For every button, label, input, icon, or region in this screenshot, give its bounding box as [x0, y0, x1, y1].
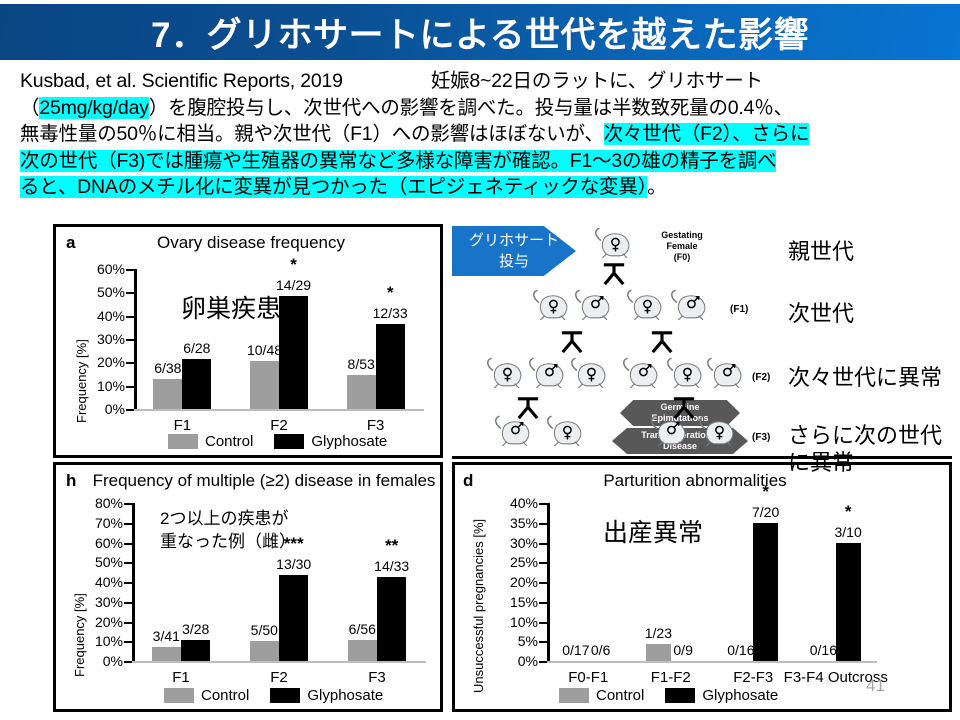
- bar-control-f3: [347, 375, 376, 409]
- bar-value-label: 6/56: [349, 621, 376, 637]
- y-axis-tick-label: 80%: [95, 495, 123, 511]
- pedigree-fork-f1-right: [648, 330, 676, 359]
- y-axis-tick: [124, 622, 132, 624]
- chart-legend-h: ControlGlyphosate: [164, 687, 397, 704]
- y-axis-tick-label: 35%: [510, 515, 538, 531]
- f0-caption: Gestating Female (F0): [634, 230, 730, 263]
- bar-glyphosate-f2: [279, 296, 308, 409]
- bar-value-label: 0/9: [673, 642, 692, 658]
- generation-label-f3: さらに次の世代 に異常: [788, 422, 942, 476]
- rat-icon-f2-3: [620, 356, 664, 393]
- body-line-1: Kusbad, et al. Scientific Reports, 2019妊…: [20, 68, 948, 95]
- slide: 7．グリホサートによる世代を越えた影響 Kusbad, et al. Scien…: [0, 0, 960, 720]
- bar-value-label: 6/38: [154, 360, 181, 376]
- y-axis-tick-label: 20%: [95, 614, 123, 630]
- y-axis-tick: [126, 316, 134, 318]
- bar-glyphosate-f1: [181, 640, 210, 661]
- bar-value-label: 14/33: [374, 558, 409, 574]
- rat-icon-f0-female: [592, 226, 636, 263]
- generation-label-f2: 次々世代に異常: [788, 364, 942, 391]
- body-line-5: ると、DNAのメチル化に変異が見つかった（エピジェネティックな変異）。: [20, 174, 948, 201]
- y-axis-tick: [124, 641, 132, 643]
- legend-label-glyphosate: Glyphosate: [311, 433, 387, 450]
- y-axis-tick: [126, 269, 134, 271]
- glyphosate-dose-arrow: グリホサート 投与: [452, 226, 576, 276]
- x-axis-category-label: F2-F3: [733, 669, 773, 686]
- body-line-4-highlight: 次の世代（F3)では腫瘍や生殖器の異常など多様な障害が確認。F1～3の雄の精子を…: [20, 150, 776, 172]
- chart-legend-a: ControlGlyphosate: [168, 433, 401, 450]
- x-axis-category-label: F1: [174, 417, 192, 434]
- y-axis-tick: [124, 562, 132, 564]
- y-axis-tick: [539, 602, 547, 604]
- y-axis-tick-label: 50%: [97, 284, 125, 300]
- page-title: 7．グリホサートによる世代を越えた影響: [151, 7, 809, 58]
- bar-value-label: 3/28: [182, 621, 209, 637]
- y-axis-tick: [539, 523, 547, 525]
- f1-generation-label: (F1): [730, 304, 748, 315]
- chart-overlay-note-d: 出産異常: [603, 513, 703, 549]
- chart-overlay-note-a: 卵巣疾患: [181, 289, 281, 325]
- dose-arrow-line2: 投与: [499, 251, 529, 272]
- bar-value-label: 10/48: [247, 342, 282, 358]
- y-axis-tick-label: 20%: [97, 354, 125, 370]
- x-axis-category-label: F0-F1: [568, 669, 608, 686]
- dose-highlight: 25mg/kg/day: [39, 97, 148, 119]
- y-axis-tick: [126, 339, 134, 341]
- bar-value-label: 14/29: [276, 277, 311, 293]
- x-axis-line: [134, 409, 424, 411]
- legend-label-control: Control: [205, 433, 253, 450]
- chart-y-axis-label-a: Frequency [%]: [74, 339, 89, 423]
- legend-swatch-glyphosate: [665, 688, 695, 703]
- chart-panel-ovary-disease: a Ovary disease frequency Frequency [%] …: [53, 224, 443, 458]
- bar-control-f1: [153, 379, 182, 409]
- bar-control-f1: [152, 647, 181, 661]
- body-line-4: 次の世代（F3)では腫瘍や生殖器の異常など多様な障害が確認。F1～3の雄の精子を…: [20, 148, 948, 175]
- chart-plot-area-d: 0%5%10%15%20%25%30%35%40%0/170/6F0-F11/2…: [547, 503, 877, 661]
- bar-value-label: 8/53: [348, 356, 375, 372]
- y-axis-tick-label: 50%: [95, 554, 123, 570]
- chart-title-a: Ovary disease frequency: [56, 233, 446, 253]
- y-axis-tick-label: 5%: [518, 633, 538, 649]
- y-axis-tick-label: 20%: [510, 574, 538, 590]
- title-bar-bottom-edge: [0, 60, 960, 64]
- legend-swatch-control: [164, 688, 194, 703]
- y-axis-line: [547, 503, 550, 661]
- generation-label-next: 次世代: [788, 300, 854, 327]
- pedigree-fork-f0: [600, 262, 628, 291]
- y-axis-tick: [126, 409, 134, 411]
- y-axis-tick-label: 15%: [510, 594, 538, 610]
- y-axis-tick: [126, 386, 134, 388]
- y-axis-tick-label: 40%: [510, 495, 538, 511]
- bar-value-label: 0/16: [727, 642, 754, 658]
- y-axis-tick-label: 60%: [95, 535, 123, 551]
- y-axis-tick: [539, 503, 547, 505]
- diagram-baseline: [452, 456, 952, 459]
- rat-icon-f1-3: [668, 288, 712, 325]
- body-line-3-highlight: 次々世代（F2）、さらに: [604, 123, 810, 145]
- pedigree-fork-f1-left: [558, 330, 586, 359]
- chart-legend-d: ControlGlyphosate: [559, 687, 792, 704]
- rat-icon-f2-1: [526, 356, 570, 393]
- y-axis-tick: [539, 622, 547, 624]
- significance-marker: *: [290, 260, 297, 270]
- chart-panel-parturition: d Parturition abnormalities Unsuccessful…: [452, 462, 952, 712]
- bar-value-label: 12/33: [373, 305, 408, 321]
- x-axis-line: [132, 661, 426, 663]
- bar-control-f2: [250, 361, 279, 409]
- x-axis-category-label: F1-F2: [651, 669, 691, 686]
- x-axis-category-label: F1: [172, 669, 190, 686]
- x-axis-category-label: F3: [367, 417, 385, 434]
- y-axis-tick-label: 30%: [97, 331, 125, 347]
- panel-letter-h: h: [66, 471, 76, 491]
- chart-title-h: Frequency of multiple (≥2) disease in fe…: [84, 471, 444, 491]
- y-axis-tick: [126, 292, 134, 294]
- bar-control-f2: [250, 641, 279, 661]
- legend-label-control: Control: [201, 687, 249, 704]
- body-line-2-rest: ）を腹腔投与し、次世代への影響を調べた。投与量は半数致死量の0.4％、: [149, 97, 793, 119]
- bar-value-label: 7/20: [752, 504, 779, 520]
- rat-icon-f2-2: [568, 356, 612, 393]
- citation-text: Kusbad, et al. Scientific Reports, 2019: [20, 70, 343, 92]
- y-axis-line: [134, 269, 137, 409]
- body-line-3-plain: 無毒性量の50％に相当。親や次世代（F1）への影響はほぼないが、: [20, 123, 604, 145]
- y-axis-tick-label: 25%: [510, 554, 538, 570]
- y-axis-tick: [124, 602, 132, 604]
- legend-swatch-glyphosate: [274, 434, 304, 449]
- chart-y-axis-label-h: Frequency [%]: [72, 593, 87, 677]
- rat-icon-f2-4: [664, 356, 708, 393]
- chart-panel-multiple-disease: h Frequency of multiple (≥2) disease in …: [53, 462, 443, 712]
- rat-icon-f3-2: [648, 414, 692, 451]
- pedigree-diagram: グリホサート 投与 Gestating Female (F0) (F1) (F2…: [452, 224, 952, 456]
- bar-value-label: 0/17: [562, 642, 589, 658]
- bar-glyphosate-f3: [376, 324, 405, 409]
- chart-overlay-note-h: 2つ以上の疾患が 重なった例（雌）: [160, 507, 296, 553]
- legend-swatch-control: [168, 434, 198, 449]
- significance-marker: *: [387, 288, 394, 298]
- rat-icon-f1-0: [530, 288, 574, 325]
- x-axis-line: [547, 661, 877, 663]
- bar-value-label: 3/10: [835, 524, 862, 540]
- legend-swatch-glyphosate: [270, 688, 300, 703]
- y-axis-tick: [124, 582, 132, 584]
- f2-generation-label: (F2): [752, 372, 770, 383]
- bar-glyphosate-f1: [182, 359, 211, 409]
- bar-value-label: 0/6: [591, 642, 610, 658]
- legend-label-control: Control: [596, 687, 644, 704]
- legend-swatch-control: [559, 688, 589, 703]
- legend-label-glyphosate: Glyphosate: [702, 687, 778, 704]
- y-axis-tick-label: 0%: [105, 401, 125, 417]
- bar-glyphosate-f3-f4 outcross: [836, 543, 861, 662]
- body-line-5-tail: 。: [647, 176, 666, 198]
- dose-arrow-line1: グリホサート: [469, 230, 559, 251]
- bar-value-label: 3/41: [153, 628, 180, 644]
- legend-label-glyphosate: Glyphosate: [307, 687, 383, 704]
- generation-label-parent: 親世代: [788, 238, 854, 265]
- significance-marker: *: [762, 487, 769, 497]
- x-axis-category-label: F2: [270, 669, 288, 686]
- significance-marker: *: [845, 507, 852, 517]
- rat-icon-f3-0: [492, 414, 536, 451]
- y-axis-line: [132, 503, 135, 661]
- rat-icon-f2-0: [484, 356, 528, 393]
- bar-control-f3: [348, 640, 377, 661]
- panel-letter-d: d: [463, 471, 473, 491]
- body-line-2: （25mg/kg/day）を腹腔投与し、次世代への影響を調べた。投与量は半数致死…: [20, 95, 948, 122]
- body-line-1-rest: 妊娠8~22日のラットに、グリホサート: [431, 70, 763, 92]
- y-axis-tick-label: 10%: [95, 633, 123, 649]
- y-axis-tick: [124, 523, 132, 525]
- y-axis-tick-label: 60%: [97, 261, 125, 277]
- y-axis-tick-label: 10%: [510, 614, 538, 630]
- bar-value-label: 1/23: [645, 625, 672, 641]
- x-axis-category-label: F3: [368, 669, 386, 686]
- bar-control-f1-f2: [646, 644, 671, 661]
- body-paragraph: Kusbad, et al. Scientific Reports, 2019妊…: [20, 68, 948, 201]
- y-axis-tick: [539, 641, 547, 643]
- rat-icon-f3-3: [696, 414, 740, 451]
- rat-icon-f1-1: [572, 288, 616, 325]
- f3-generation-label: (F3): [752, 432, 770, 443]
- chart-y-axis-label-d: Unsuccessful pregnancies [%]: [471, 519, 486, 693]
- bar-value-label: 6/28: [183, 340, 210, 356]
- y-axis-tick: [124, 543, 132, 545]
- bar-glyphosate-f2-f3: [753, 523, 778, 661]
- y-axis-tick-label: 0%: [518, 653, 538, 669]
- bar-value-label: 13/30: [276, 556, 311, 572]
- rat-icon-f2-5: [704, 356, 748, 393]
- y-axis-tick: [539, 543, 547, 545]
- y-axis-tick: [539, 582, 547, 584]
- y-axis-tick-label: 40%: [95, 574, 123, 590]
- y-axis-tick-label: 10%: [97, 378, 125, 394]
- bar-value-label: 5/50: [251, 622, 278, 638]
- title-bar-top-edge: [0, 0, 960, 4]
- paren-open: （: [20, 97, 39, 119]
- y-axis-tick: [124, 661, 132, 663]
- y-axis-tick: [539, 562, 547, 564]
- y-axis-tick-label: 40%: [97, 308, 125, 324]
- body-line-5-highlight: ると、DNAのメチル化に変異が見つかった（エピジェネティックな変異）: [20, 176, 647, 198]
- y-axis-tick: [126, 362, 134, 364]
- significance-marker: **: [385, 541, 398, 551]
- page-number: 41: [866, 676, 885, 696]
- body-line-3: 無毒性量の50％に相当。親や次世代（F1）への影響はほぼないが、次々世代（F2）…: [20, 121, 948, 148]
- y-axis-tick-label: 0%: [103, 653, 123, 669]
- y-axis-tick-label: 30%: [95, 594, 123, 610]
- y-axis-tick: [124, 503, 132, 505]
- rat-icon-f3-1: [544, 414, 588, 451]
- y-axis-tick-label: 30%: [510, 535, 538, 551]
- slide-title-bar: 7．グリホサートによる世代を越えた影響: [0, 4, 960, 60]
- rat-icon-f1-2: [624, 288, 668, 325]
- y-axis-tick: [539, 661, 547, 663]
- x-axis-category-label: F2: [270, 417, 288, 434]
- y-axis-tick-label: 70%: [95, 515, 123, 531]
- bar-value-label: 0/16: [810, 642, 837, 658]
- bar-glyphosate-f3: [377, 577, 406, 661]
- bar-glyphosate-f2: [279, 575, 308, 661]
